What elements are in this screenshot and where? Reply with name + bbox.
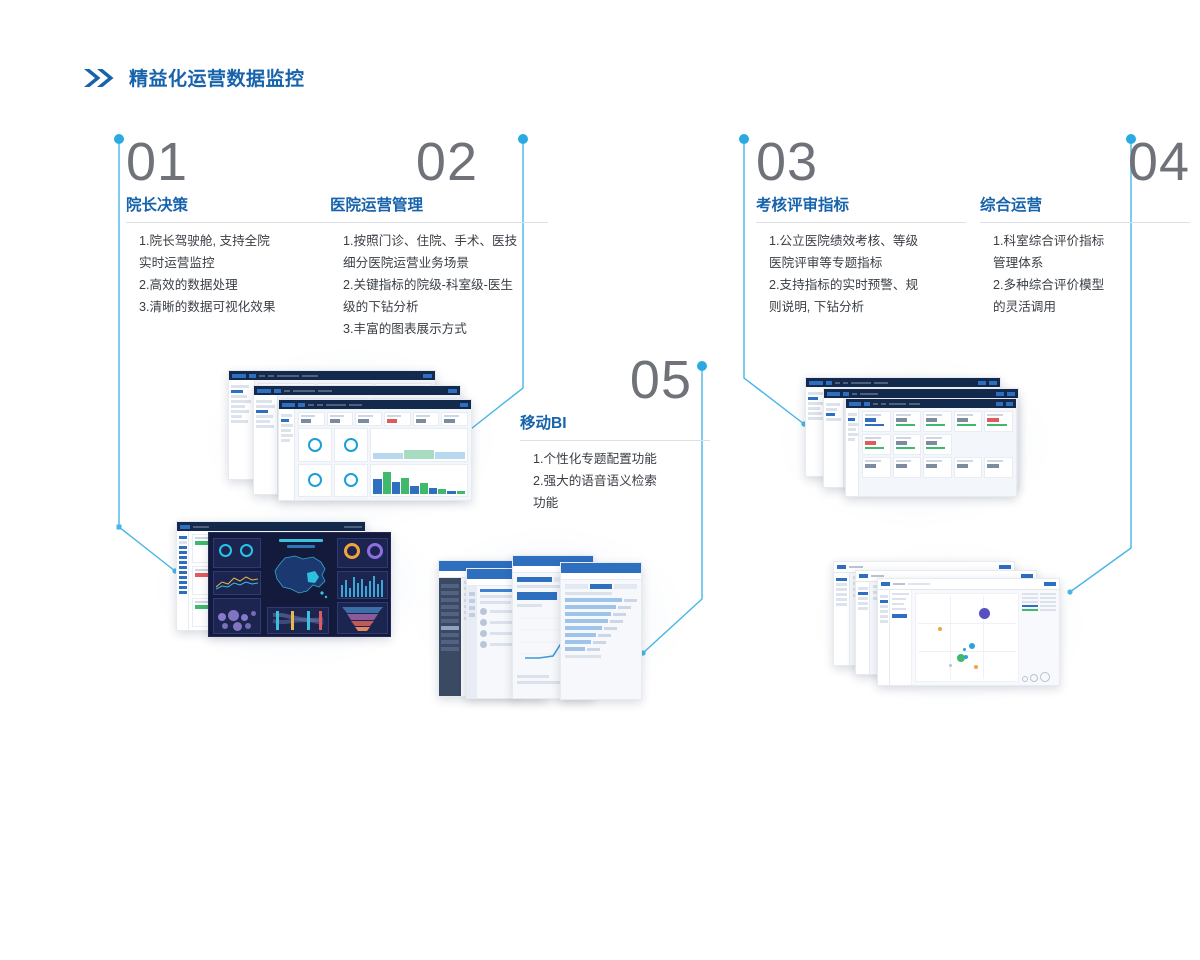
china-map-icon	[269, 551, 335, 603]
screenshot-thumb[interactable]	[278, 399, 472, 501]
window-titlebar	[177, 522, 365, 531]
legend-panel	[1022, 593, 1056, 682]
list-item: 1.按照门诊、住院、手术、医技 细分医院运营业务场景	[330, 231, 548, 275]
window-body	[846, 408, 1016, 496]
step-title-05: 移动BI	[520, 415, 710, 442]
step-title-04: 综合运营	[980, 197, 1190, 224]
filter-panel	[890, 590, 912, 685]
connector-endcap-04	[1067, 589, 1072, 594]
list-item: 2.强大的语音语义检索 功能	[520, 471, 710, 515]
list-item: 2.关键指标的院级-科室级-医生 级的下钻分析	[330, 275, 548, 319]
president-cockpit-dark-dashboard	[0, 0, 183, 105]
list-item: 3.丰富的图表展示方式	[330, 319, 548, 341]
window-body	[279, 409, 471, 500]
list-item: 1.个性化专题配置功能	[520, 449, 710, 471]
list-item: 1.院长驾驶舱, 支持全院 实时运营监控	[126, 231, 336, 275]
step-number-01: 01	[126, 138, 336, 188]
list-item: 2.支持指标的实时预警、规 则说明, 下钻分析	[756, 275, 966, 319]
step-list-01: 1.院长驾驶舱, 支持全院 实时运营监控 2.高效的数据处理 3.清晰的数据可视…	[126, 231, 336, 319]
window-titlebar	[824, 389, 1018, 398]
step-list-02: 1.按照门诊、住院、手术、医技 细分医院运营业务场景 2.关键指标的院级-科室级…	[330, 231, 548, 341]
step-block-05: 05 移动BI 1.个性化专题配置功能 2.强大的语音语义检索 功能	[520, 356, 710, 515]
step-title-02: 医院运营管理	[330, 197, 548, 224]
screenshot-thumb[interactable]	[877, 578, 1060, 686]
screenshot-thumb-dark-bigscreen[interactable]	[208, 532, 391, 637]
step-number-05: 05	[520, 356, 710, 406]
node-dot-01	[114, 134, 124, 144]
step-number-02: 02	[330, 138, 548, 188]
step-block-04: 04 综合运营 1.科室综合评价指标 管理体系 2.多种综合评价模型 的灵活调用	[980, 138, 1190, 319]
list-item: 2.多种综合评价模型 的灵活调用	[980, 275, 1190, 319]
step-list-05: 1.个性化专题配置功能 2.强大的语音语义检索 功能	[520, 449, 710, 515]
window-titlebar	[846, 399, 1016, 408]
window-body	[878, 590, 1059, 685]
window-titlebar	[878, 579, 1059, 590]
screenshot-thumb[interactable]	[845, 398, 1017, 497]
window-titlebar	[279, 400, 471, 409]
list-item: 1.公立医院绩效考核、等级 医院评审等专题指标	[756, 231, 966, 275]
mobile-screenshot-thumb[interactable]	[560, 562, 642, 700]
window-titlebar	[254, 386, 460, 395]
step-block-02: 02 医院运营管理 1.按照门诊、住院、手术、医技 细分医院运营业务场景 2.关…	[330, 138, 548, 341]
step-block-03: 03 考核评审指标 1.公立医院绩效考核、等级 医院评审等专题指标 2.支持指标…	[756, 138, 966, 319]
mobile-header	[561, 563, 641, 573]
step-block-01: 01 院长决策 1.院长驾驶舱, 支持全院 实时运营监控 2.高效的数据处理 3…	[126, 138, 336, 319]
step-title-01: 院长决策	[126, 197, 336, 224]
scatter-plot	[915, 593, 1019, 682]
step-number-04: 04	[980, 138, 1190, 188]
step-title-03: 考核评审指标	[756, 197, 966, 224]
window-titlebar	[806, 378, 1000, 387]
step-number-03: 03	[756, 138, 966, 188]
list-item: 3.清晰的数据可视化效果	[126, 297, 336, 319]
node-dot-03	[739, 134, 749, 144]
list-item: 2.高效的数据处理	[126, 275, 336, 297]
step-list-03: 1.公立医院绩效考核、等级 医院评审等专题指标 2.支持指标的实时预警、规 则说…	[756, 231, 966, 319]
window-titlebar	[229, 371, 435, 380]
step-list-04: 1.科室综合评价指标 管理体系 2.多种综合评价模型 的灵活调用	[980, 231, 1190, 319]
list-item: 1.科室综合评价指标 管理体系	[980, 231, 1190, 275]
connector-elbow-01	[117, 525, 122, 530]
